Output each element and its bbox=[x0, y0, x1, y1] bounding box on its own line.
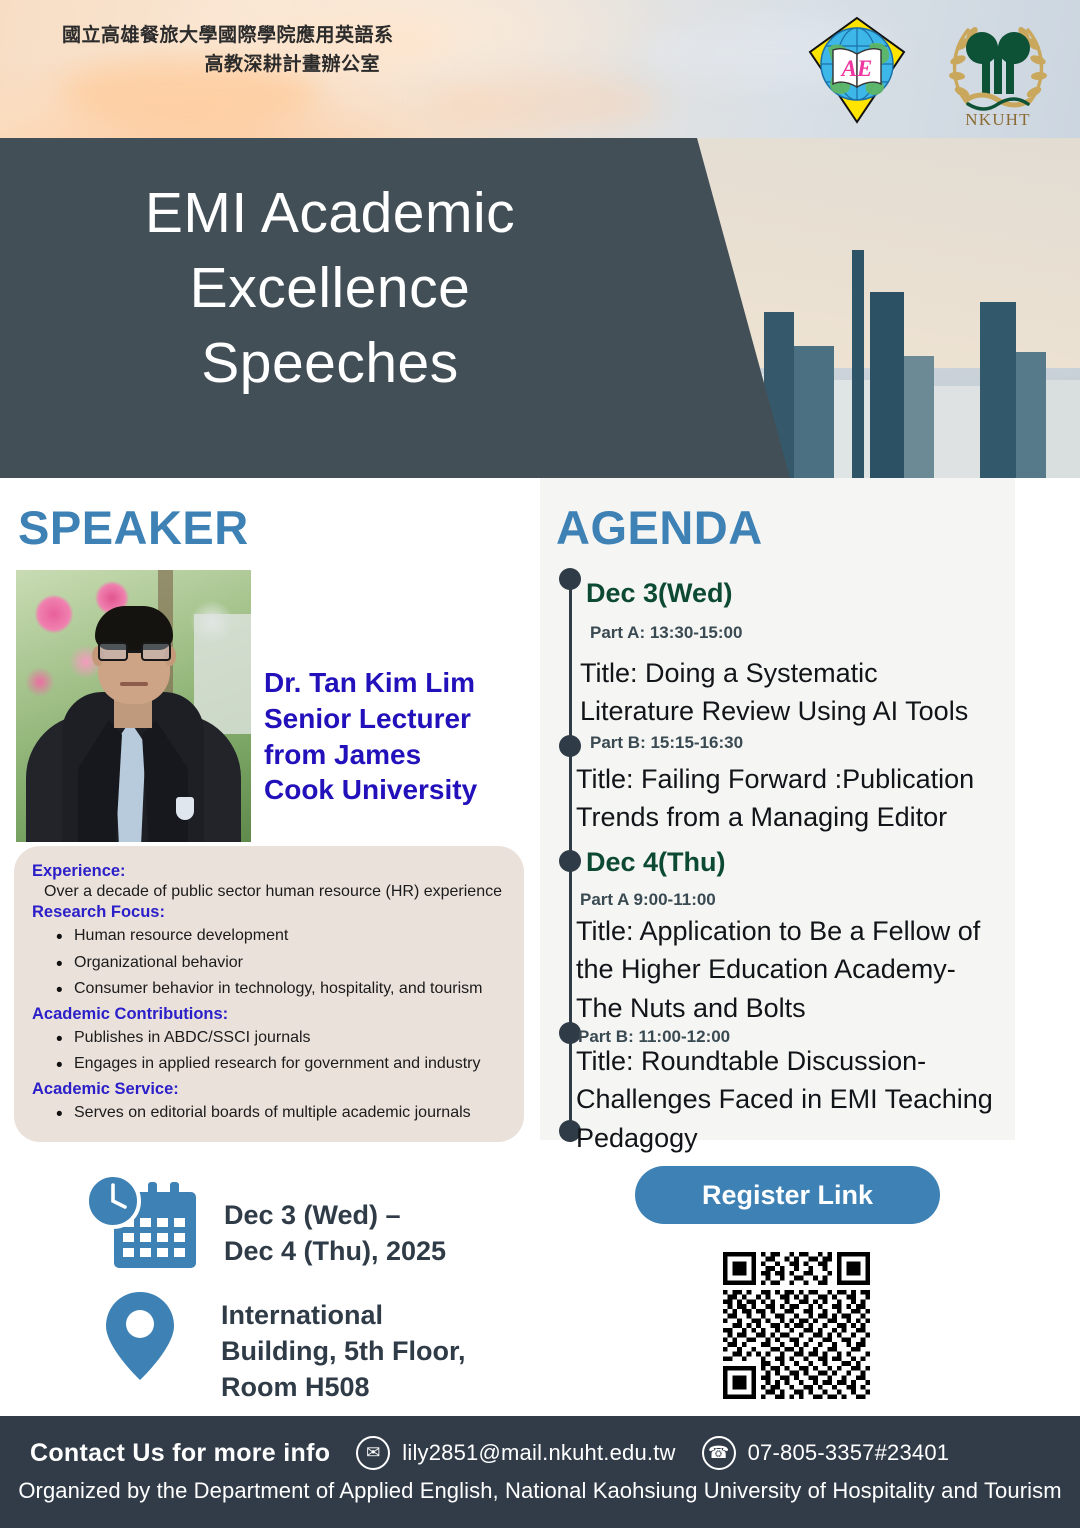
hero-title: EMI Academic Excellence Speeches bbox=[0, 176, 660, 402]
event-venue-line-1: International bbox=[221, 1297, 521, 1333]
bio-research-label: Research Focus: bbox=[32, 903, 508, 922]
speaker-title: Senior Lecturer bbox=[264, 701, 529, 737]
hero-title-line-2: Excellence bbox=[0, 251, 660, 326]
agenda-title-line: Pedagogy bbox=[576, 1119, 1080, 1157]
hero-title-line-1: EMI Academic bbox=[0, 176, 660, 251]
event-date-text: Dec 3 (Wed) – Dec 4 (Thu), 2025 bbox=[224, 1197, 514, 1269]
agenda-section-heading: AGENDA bbox=[556, 500, 763, 555]
organized-by-text: Organized by the Department of Applied E… bbox=[0, 1478, 1080, 1504]
event-date-line-1: Dec 3 (Wed) – bbox=[224, 1197, 514, 1233]
agenda-day2-partA-time: Part A 9:00-11:00 bbox=[580, 890, 716, 910]
org-line-1: 國立高雄餐旅大學國際學院應用英語系 bbox=[62, 22, 492, 51]
register-link-button[interactable]: Register Link bbox=[635, 1166, 940, 1224]
agenda-title-line: Title: Application to Be a Fellow of bbox=[576, 912, 1080, 950]
location-pin-icon bbox=[104, 1290, 176, 1382]
footer-contact-bar: Contact Us for more info ✉ lily2851@mail… bbox=[0, 1416, 1080, 1528]
bio-experience-label: Experience: bbox=[32, 862, 508, 881]
ae-department-logo-icon: AE bbox=[804, 14, 910, 126]
agenda-title-line: Title: Doing a Systematic bbox=[580, 654, 1080, 692]
agenda-day1-partA-title: Title: Doing a Systematic Literature Rev… bbox=[580, 654, 1080, 731]
agenda-day1-date: Dec 3(Wed) bbox=[586, 578, 733, 609]
hero-title-line-3: Speeches bbox=[0, 326, 660, 401]
speaker-affiliation-line-2: Cook University bbox=[264, 772, 529, 808]
svg-text:AE: AE bbox=[840, 56, 873, 81]
bio-contributions-label: Academic Contributions: bbox=[32, 1005, 508, 1024]
event-venue-text: International Building, 5th Floor, Room … bbox=[221, 1297, 521, 1406]
agenda-title-line: Challenges Faced in EMI Teaching bbox=[576, 1080, 1080, 1118]
organization-title: 國立高雄餐旅大學國際學院應用英語系 高教深耕計畫辦公室 bbox=[62, 22, 492, 79]
footer-contact-row: Contact Us for more info ✉ lily2851@mail… bbox=[30, 1436, 949, 1470]
contact-phone: 07-805-3357#23401 bbox=[748, 1440, 950, 1466]
timeline-dot bbox=[559, 568, 581, 590]
speaker-name: Dr. Tan Kim Lim bbox=[264, 665, 529, 701]
agenda-title-line: The Nuts and Bolts bbox=[576, 989, 1080, 1027]
agenda-title-line: Literature Review Using AI Tools bbox=[580, 692, 1080, 730]
bio-service-label: Academic Service: bbox=[32, 1080, 508, 1099]
agenda-day2-partB-title: Title: Roundtable Discussion- Challenges… bbox=[576, 1042, 1080, 1157]
bio-contributions-list: Publishes in ABDC/SSCI journals Engages … bbox=[32, 1025, 508, 1078]
timeline-dot bbox=[559, 735, 581, 757]
list-item: Human resource development bbox=[56, 923, 508, 950]
nkuht-logo-text: NKUHT bbox=[965, 110, 1031, 129]
calendar-clock-icon bbox=[82, 1174, 198, 1272]
speaker-bio-box: Experience: Over a decade of public sect… bbox=[14, 846, 524, 1142]
agenda-day1-partA-time: Part A: 13:30-15:00 bbox=[590, 623, 742, 643]
hero-banner: EMI Academic Excellence Speeches bbox=[0, 138, 1080, 478]
list-item: Consumer behavior in technology, hospita… bbox=[56, 976, 508, 1003]
event-venue-line-2: Building, 5th Floor, bbox=[221, 1333, 521, 1369]
contact-title: Contact Us for more info bbox=[30, 1439, 330, 1468]
cloud-decoration bbox=[430, 74, 660, 132]
bio-service-list: Serves on editorial boards of multiple a… bbox=[32, 1100, 508, 1127]
list-item: Serves on editorial boards of multiple a… bbox=[56, 1100, 508, 1127]
agenda-title-line: Title: Failing Forward :Publication bbox=[576, 760, 1080, 798]
list-item: Publishes in ABDC/SSCI journals bbox=[56, 1025, 508, 1052]
agenda-title-line: Trends from a Managing Editor bbox=[576, 798, 1080, 836]
timeline-dot bbox=[559, 850, 581, 872]
agenda-day2-partA-title: Title: Application to Be a Fellow of the… bbox=[576, 912, 1080, 1027]
event-venue-line-3: Room H508 bbox=[221, 1369, 521, 1405]
registration-qr-code[interactable] bbox=[718, 1247, 875, 1404]
bio-experience-text: Over a decade of public sector human res… bbox=[32, 883, 508, 901]
speaker-name-block: Dr. Tan Kim Lim Senior Lecturer from Jam… bbox=[264, 665, 529, 808]
agenda-day1-partB-time: Part B: 15:15-16:30 bbox=[590, 733, 743, 753]
contact-email[interactable]: lily2851@mail.nkuht.edu.tw bbox=[402, 1440, 675, 1466]
nkuht-logo-icon: NKUHT bbox=[938, 12, 1058, 130]
bio-research-list: Human resource development Organizationa… bbox=[32, 923, 508, 1003]
speaker-section-heading: SPEAKER bbox=[18, 500, 249, 555]
agenda-day1-partB-title: Title: Failing Forward :Publication Tren… bbox=[576, 760, 1080, 837]
speaker-photo bbox=[16, 570, 251, 842]
email-icon: ✉ bbox=[356, 1436, 390, 1470]
agenda-title-line: the Higher Education Academy- bbox=[576, 950, 1080, 988]
list-item: Engages in applied research for governme… bbox=[56, 1051, 508, 1078]
list-item: Organizational behavior bbox=[56, 950, 508, 977]
agenda-day2-date: Dec 4(Thu) bbox=[586, 847, 726, 878]
phone-icon: ☎ bbox=[702, 1436, 736, 1470]
event-date-line-2: Dec 4 (Thu), 2025 bbox=[224, 1233, 514, 1269]
speaker-affiliation-line-1: from James bbox=[264, 737, 529, 773]
org-line-2: 高教深耕計畫辦公室 bbox=[62, 51, 492, 80]
agenda-title-line: Title: Roundtable Discussion- bbox=[576, 1042, 1080, 1080]
